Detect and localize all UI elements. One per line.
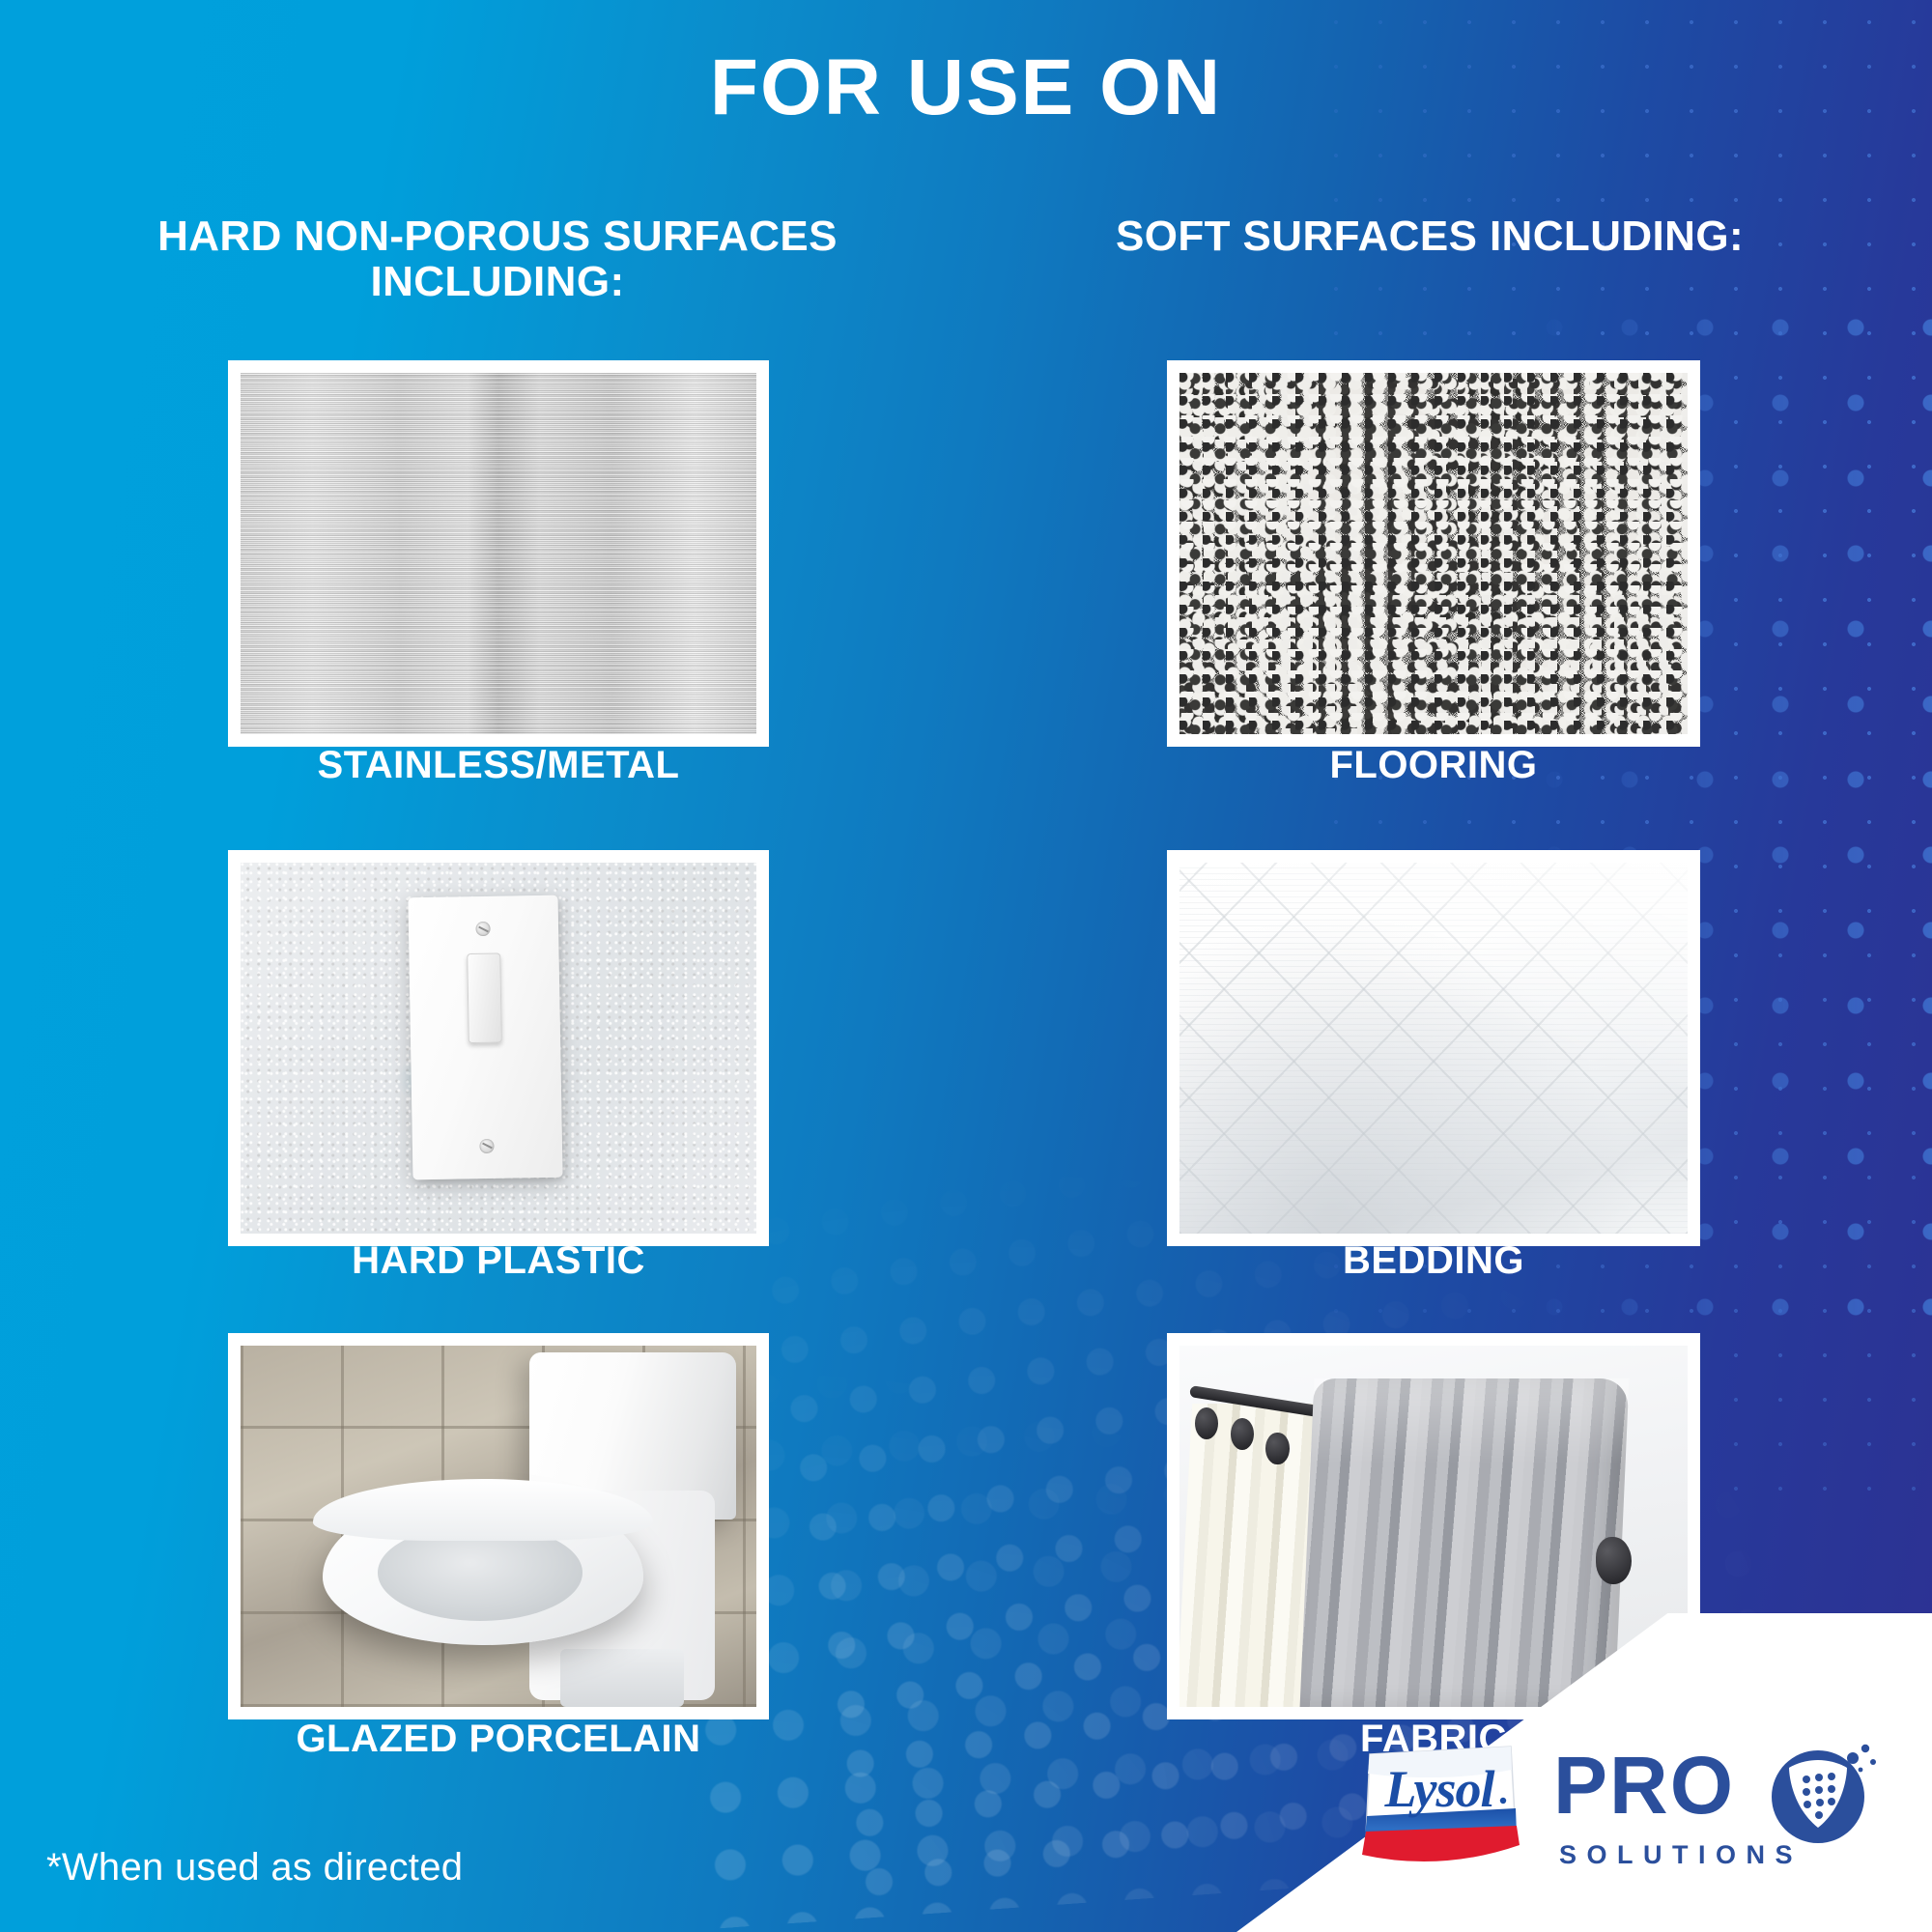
grey-drape xyxy=(1299,1378,1629,1707)
lysol-logo: Lysol xyxy=(1358,1741,1522,1876)
caption-glazed-porcelain: GLAZED PORCELAIN xyxy=(189,1718,808,1761)
svg-text:Lysol: Lysol xyxy=(1384,1760,1495,1818)
screw-top-icon xyxy=(476,922,491,936)
curtain-ring xyxy=(1195,1407,1218,1440)
solutions-wordmark: SOLUTIONS xyxy=(1559,1842,1803,1868)
pro-shield-icon xyxy=(1764,1737,1878,1851)
pro-solutions-logo: PRO SOLUTIONS xyxy=(1553,1745,1872,1870)
poster-canvas: FOR USE ON HARD NON-POROUS SURFACES INCL… xyxy=(0,0,1932,1932)
fabric-photo xyxy=(1179,1346,1688,1707)
caption-hard-plastic: HARD PLASTIC xyxy=(189,1239,808,1283)
glazed-porcelain-photo xyxy=(241,1346,756,1707)
light-switch-plate xyxy=(409,895,563,1179)
surface-card-glazed-porcelain xyxy=(228,1333,769,1719)
caption-bedding: BEDDING xyxy=(1124,1239,1743,1283)
column-heading-soft-surfaces: SOFT SURFACES INCLUDING: xyxy=(966,214,1893,260)
flooring-photo xyxy=(1179,373,1688,734)
caption-stainless-metal: STAINLESS/METAL xyxy=(189,744,808,787)
surface-card-stainless-metal xyxy=(228,360,769,747)
surface-card-flooring xyxy=(1167,360,1700,747)
screw-bottom-icon xyxy=(480,1138,495,1152)
caption-flooring: FLOORING xyxy=(1124,744,1743,787)
surface-card-hard-plastic xyxy=(228,850,769,1246)
toilet-base xyxy=(560,1649,684,1707)
pro-wordmark: PRO xyxy=(1553,1745,1735,1826)
bedding-photo xyxy=(1179,863,1688,1234)
surface-card-bedding xyxy=(1167,850,1700,1246)
curtain-ring xyxy=(1231,1418,1254,1451)
column-heading-hard-surfaces: HARD NON-POROUS SURFACES INCLUDING: xyxy=(39,214,956,304)
hard-plastic-photo xyxy=(241,863,756,1234)
page-title: FOR USE ON xyxy=(0,43,1932,133)
stainless-metal-photo xyxy=(241,373,756,734)
curtain-finial xyxy=(1596,1537,1632,1584)
curtain-ring xyxy=(1265,1433,1289,1465)
footnote-disclaimer: *When used as directed xyxy=(46,1846,463,1889)
